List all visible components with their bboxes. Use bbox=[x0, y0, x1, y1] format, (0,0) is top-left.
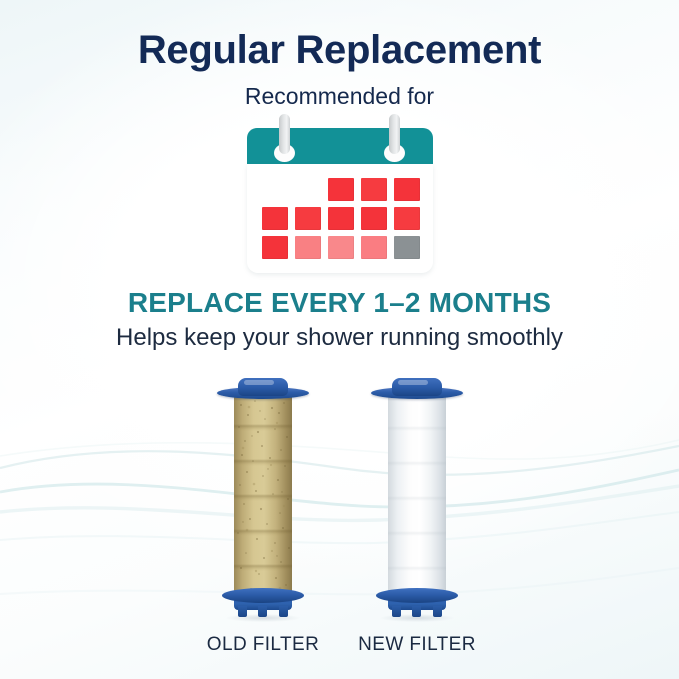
new-filter-foot bbox=[433, 606, 442, 617]
new-filter-cartridge bbox=[362, 374, 472, 622]
calendar-cell-marked bbox=[295, 207, 321, 230]
old-filter-foot bbox=[279, 606, 288, 617]
old-filter-body bbox=[234, 396, 292, 596]
calendar-cell-marked bbox=[361, 178, 387, 201]
old-filter-top-cap-highlight bbox=[244, 380, 274, 385]
calendar-cell-marked bbox=[328, 178, 354, 201]
old-filter-label: OLD FILTER bbox=[178, 634, 348, 656]
new-filter-label: NEW FILTER bbox=[332, 634, 502, 656]
calendar-cell-faded bbox=[328, 236, 354, 259]
new-filter-top-cap-highlight bbox=[398, 380, 428, 385]
old-filter-foot bbox=[258, 606, 267, 617]
new-filter-bottom-ring bbox=[376, 588, 458, 603]
calendar-cell-marked bbox=[394, 207, 420, 230]
product-infographic: Regular Replacement Recommended for REPL… bbox=[0, 0, 679, 679]
calendar-hanger-right-icon bbox=[389, 114, 400, 154]
old-filter-bottom-ring bbox=[222, 588, 304, 603]
calendar-body bbox=[247, 164, 433, 273]
calendar-day-grid bbox=[262, 178, 420, 259]
calendar-cell-empty bbox=[295, 178, 321, 201]
calendar-cell-marked bbox=[262, 207, 288, 230]
calendar-icon bbox=[247, 128, 433, 273]
calendar-hanger-left-icon bbox=[279, 114, 290, 154]
calendar-cell-marked bbox=[262, 236, 288, 259]
old-filter-foot bbox=[238, 606, 247, 617]
replacement-headline: REPLACE EVERY 1–2 MONTHS bbox=[0, 286, 679, 320]
old-filter-cartridge bbox=[208, 374, 318, 622]
calendar-cell-current bbox=[394, 236, 420, 259]
replacement-tagline: Helps keep your shower running smoothly bbox=[0, 324, 679, 353]
calendar-cell-empty bbox=[262, 178, 288, 201]
calendar-cell-marked bbox=[328, 207, 354, 230]
new-filter-body bbox=[388, 396, 446, 596]
calendar-cell-faded bbox=[361, 236, 387, 259]
old-filter-grime-texture bbox=[234, 396, 292, 596]
page-subtitle: Recommended for bbox=[0, 83, 679, 111]
page-title: Regular Replacement bbox=[0, 27, 679, 74]
calendar-cell-marked bbox=[394, 178, 420, 201]
calendar-cell-faded bbox=[295, 236, 321, 259]
new-filter-foot bbox=[412, 606, 421, 617]
calendar-cell-marked bbox=[361, 207, 387, 230]
new-filter-foot bbox=[392, 606, 401, 617]
